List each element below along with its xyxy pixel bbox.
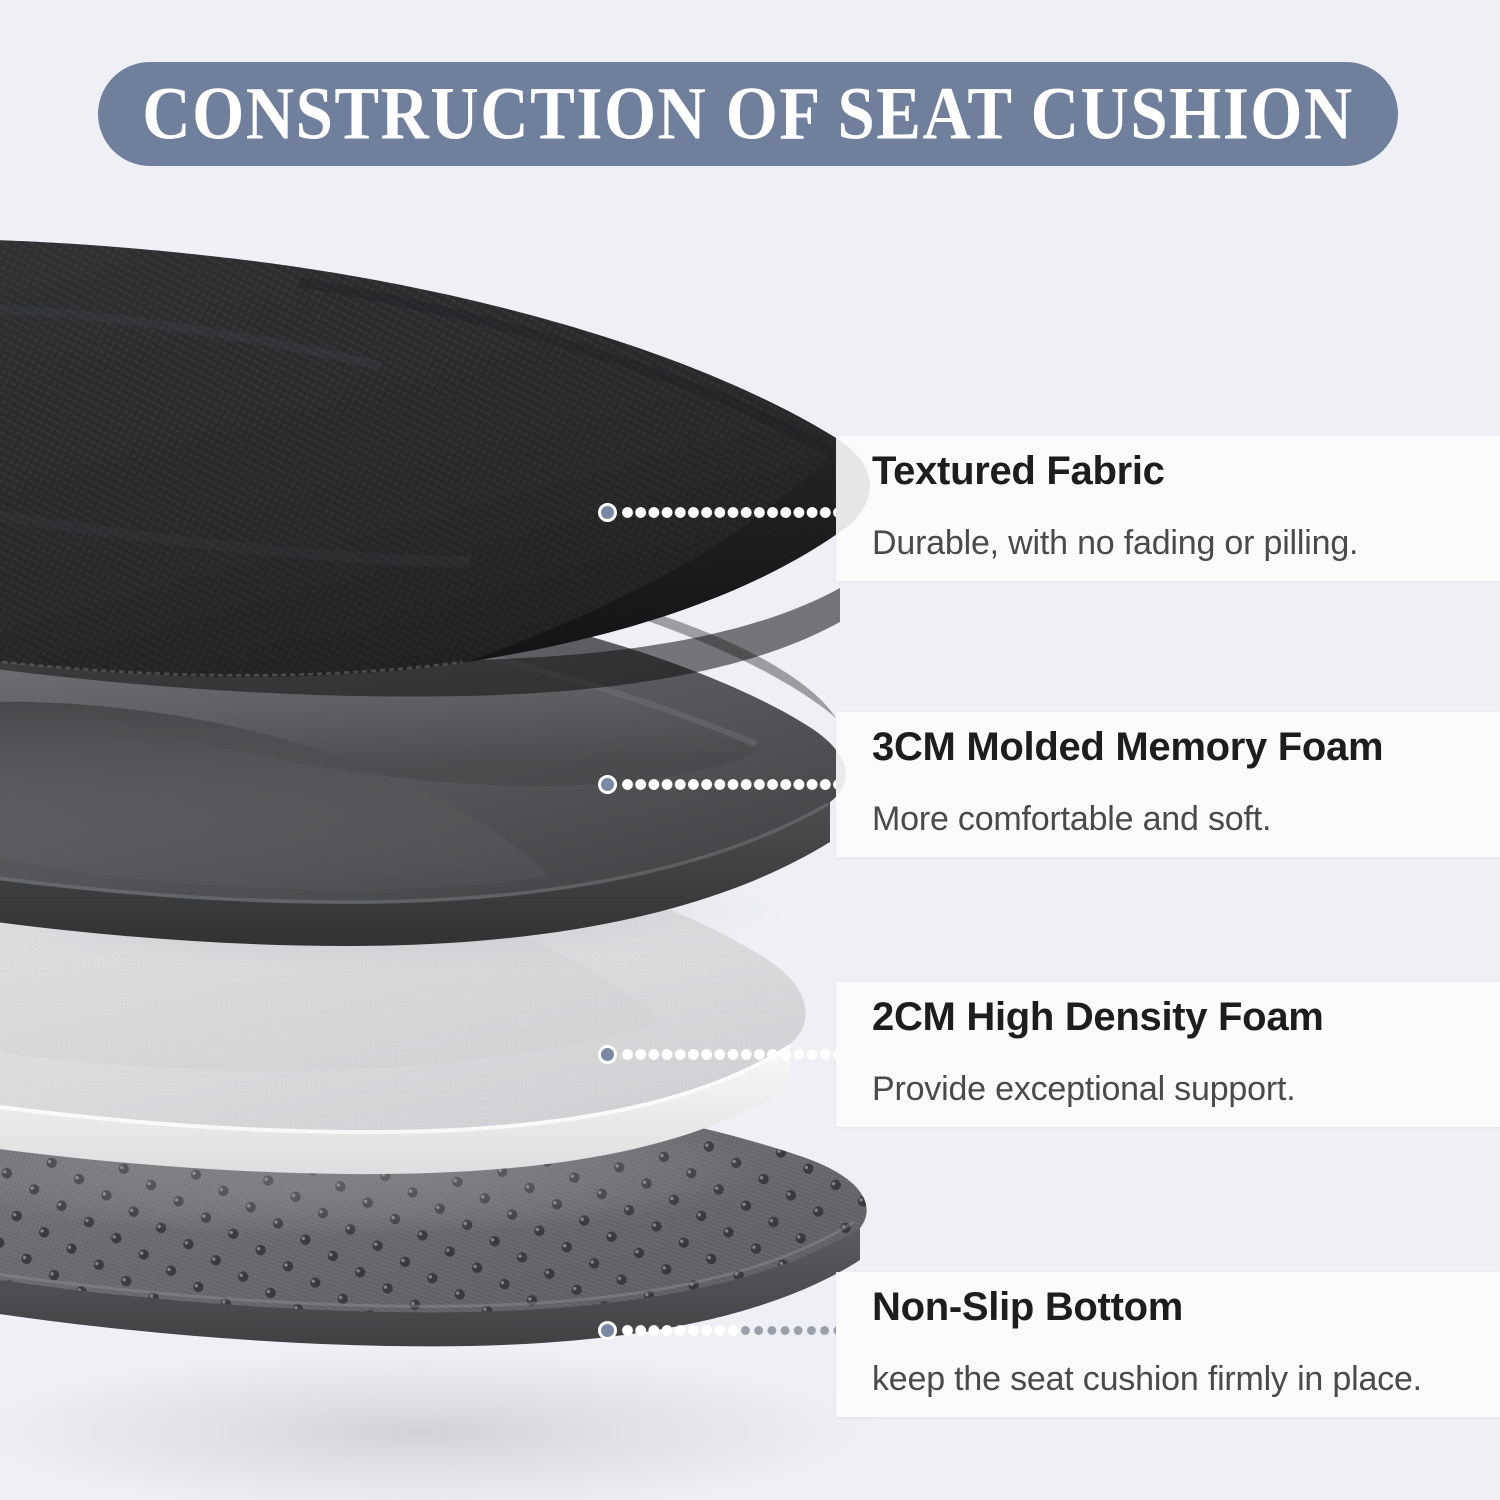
leader-dots [621, 506, 836, 519]
callout-memory-foam: 3CM Molded Memory Foam More comfortable … [836, 712, 1500, 857]
leader-endpoint-marker-icon [598, 775, 617, 794]
callout-description: keep the seat cushion firmly in place. [872, 1357, 1474, 1401]
leader-dots-on-light [739, 1324, 836, 1337]
callout-title: 3CM Molded Memory Foam [872, 722, 1474, 773]
page-title: CONSTRUCTION OF SEAT CUSHION [142, 76, 1354, 151]
callout-title: Non-Slip Bottom [872, 1282, 1474, 1333]
callout-title: Textured Fabric [872, 446, 1474, 497]
leader-endpoint-marker-icon [598, 503, 617, 522]
leader-dots [621, 778, 836, 791]
leader-endpoint-marker-icon [598, 1045, 617, 1064]
leader-line-textured-fabric [598, 500, 836, 524]
leader-line-high-density-foam [598, 1042, 836, 1066]
leader-dots [621, 1048, 836, 1061]
callout-description: Provide exceptional support. [872, 1067, 1474, 1111]
callout-description: Durable, with no fading or pilling. [872, 521, 1474, 565]
callout-high-density-foam: 2CM High Density Foam Provide exceptiona… [836, 982, 1500, 1127]
callout-description: More comfortable and soft. [872, 797, 1474, 841]
leader-line-memory-foam [598, 772, 836, 796]
callout-title: 2CM High Density Foam [872, 992, 1474, 1043]
page-title-banner: CONSTRUCTION OF SEAT CUSHION [98, 62, 1398, 166]
infographic-stage: CONSTRUCTION OF SEAT CUSHION Textured Fa… [0, 0, 1500, 1500]
leader-endpoint-marker-icon [598, 1321, 617, 1340]
callout-non-slip-bottom: Non-Slip Bottom keep the seat cushion fi… [836, 1272, 1500, 1417]
leader-line-non-slip-bottom [598, 1318, 836, 1342]
leader-dots-on-dark [621, 1324, 739, 1337]
layer-textured-fabric [0, 239, 870, 697]
callout-textured-fabric: Textured Fabric Durable, with no fading … [836, 436, 1500, 581]
